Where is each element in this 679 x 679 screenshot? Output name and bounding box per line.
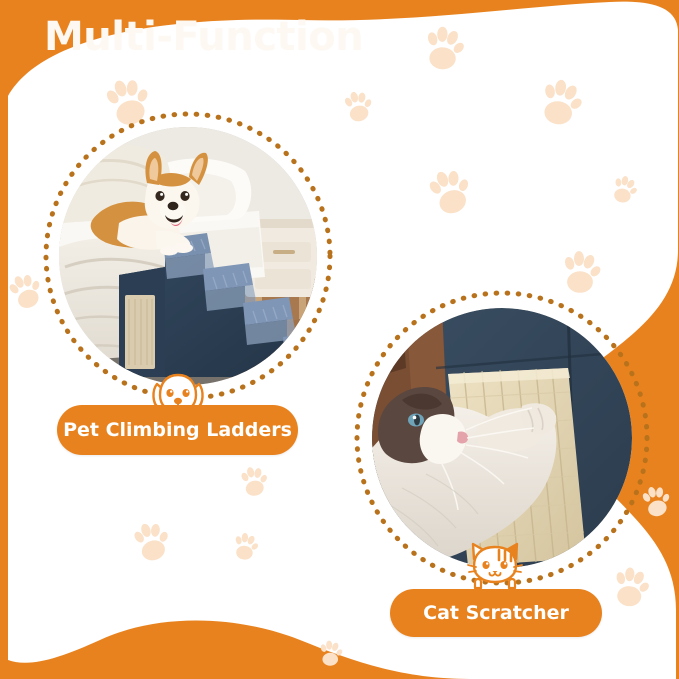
- cat-face-icon: [466, 541, 524, 589]
- label-text: Pet Climbing Ladders: [63, 419, 292, 441]
- label-pet-climbing-ladders[interactable]: Pet Climbing Ladders: [57, 405, 298, 455]
- photo-pet-climbing-ladders[interactable]: [59, 127, 317, 385]
- label-cat-scratcher[interactable]: Cat Scratcher: [390, 589, 602, 637]
- feature-card-pet-climbing-ladders: [40, 108, 336, 404]
- photo-cat-scratcher[interactable]: [372, 308, 632, 568]
- label-text: Cat Scratcher: [423, 602, 569, 624]
- page-title: Multi-Function: [44, 14, 363, 60]
- poster-canvas: Pet Climbing Ladders: [0, 0, 679, 679]
